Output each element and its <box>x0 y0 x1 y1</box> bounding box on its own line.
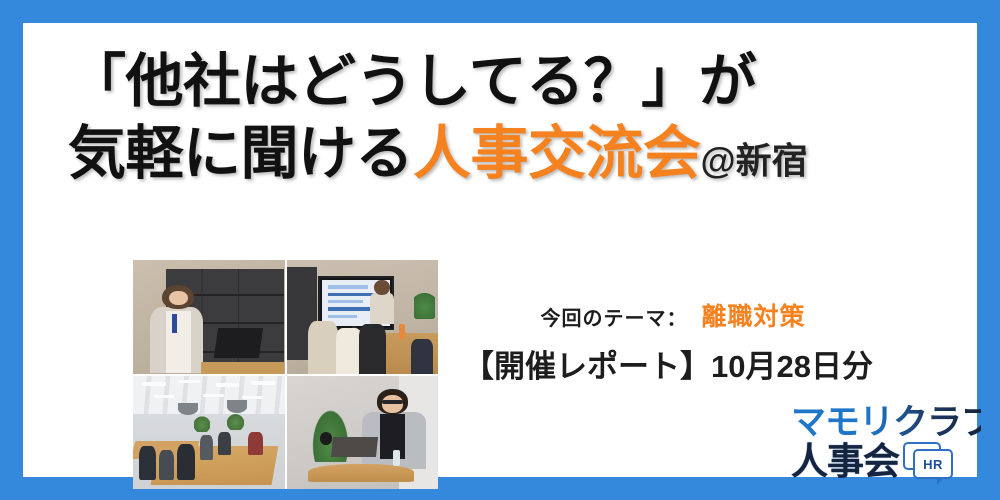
laptop-device <box>214 328 264 358</box>
ceiling-light <box>142 382 166 385</box>
presenter-shirt <box>166 311 190 373</box>
headline-line-2-plain: 気軽に聞ける <box>68 121 413 186</box>
attendee-seated <box>359 324 386 374</box>
laptop-device <box>331 437 379 457</box>
speech-bubble-front-icon: HR <box>913 449 953 479</box>
hr-badge-label: HR <box>923 458 943 471</box>
slide-row <box>328 300 363 303</box>
ceiling-light <box>216 383 239 386</box>
brand-logo-top-text: マモリクラブ <box>791 405 981 440</box>
ceiling-light <box>203 394 224 397</box>
pendant-lamp <box>227 400 247 412</box>
slide-row <box>328 307 374 310</box>
slide-row <box>328 285 368 288</box>
brand-logo: マモリクラブ 人事会 HR <box>791 405 981 491</box>
brand-logo-bottom-text: 人事会 <box>791 443 899 480</box>
attendee-seated <box>177 444 195 480</box>
attendee-seated <box>200 435 214 460</box>
ceiling-light <box>154 395 174 398</box>
slide-row <box>328 315 358 318</box>
ceiling-light <box>251 381 275 384</box>
speaker-glasses <box>382 400 403 403</box>
potted-plant <box>414 290 435 320</box>
presenter-head <box>374 280 389 295</box>
headline-line-2: 気軽に聞ける人事交流会@新宿 <box>68 125 968 183</box>
photo-wide-meeting-room <box>133 376 285 490</box>
drink-bottle <box>399 324 405 340</box>
attendee-seated <box>411 339 434 373</box>
photo-screen-presentation <box>287 260 439 374</box>
headline-block: 「他社はどうしてる？」が 気軽に聞ける人事交流会@新宿 <box>68 53 968 183</box>
round-table <box>308 464 414 482</box>
potted-plant <box>227 414 244 430</box>
photo-presenter-lockers <box>133 260 285 374</box>
attendee-seated <box>139 446 156 480</box>
potted-plant <box>194 416 211 432</box>
ceiling-light <box>242 396 262 399</box>
brand-logo-bottom-row: 人事会 HR <box>791 442 981 480</box>
desk-surface <box>201 362 284 373</box>
presenter-face <box>169 291 187 306</box>
presenter-body <box>370 293 394 324</box>
theme-label: 今回のテーマ： <box>540 308 687 330</box>
drink-bottle <box>393 450 401 466</box>
attendee-seated <box>248 432 263 455</box>
photo-man-with-laptop <box>287 376 439 490</box>
attendee-seated <box>159 450 174 480</box>
theme-line: 今回のテーマ：離職対策 <box>463 297 883 333</box>
headline-line-2-accent: 人事交流会 <box>413 121 701 186</box>
speaker-face <box>382 395 403 413</box>
ceiling-light <box>178 380 199 383</box>
banner-card: 「他社はどうしてる？」が 気軽に聞ける人事交流会@新宿 <box>23 23 977 477</box>
presenter-lanyard <box>172 314 177 332</box>
attendee-seated <box>308 321 338 373</box>
attendee-seated <box>218 432 232 455</box>
event-banner: 「他社はどうしてる？」が 気軽に聞ける人事交流会@新宿 <box>0 0 1000 500</box>
headline-location: @新宿 <box>701 140 808 181</box>
photo-collage <box>133 260 438 489</box>
camera-device <box>320 432 332 444</box>
headline-line-1: 「他社はどうしてる？」が <box>68 53 968 111</box>
hr-speech-bubble-icon: HR <box>903 442 951 480</box>
theme-value: 離職対策 <box>701 303 805 331</box>
report-date-line: 【開催レポート】10月28日分 <box>453 341 883 386</box>
